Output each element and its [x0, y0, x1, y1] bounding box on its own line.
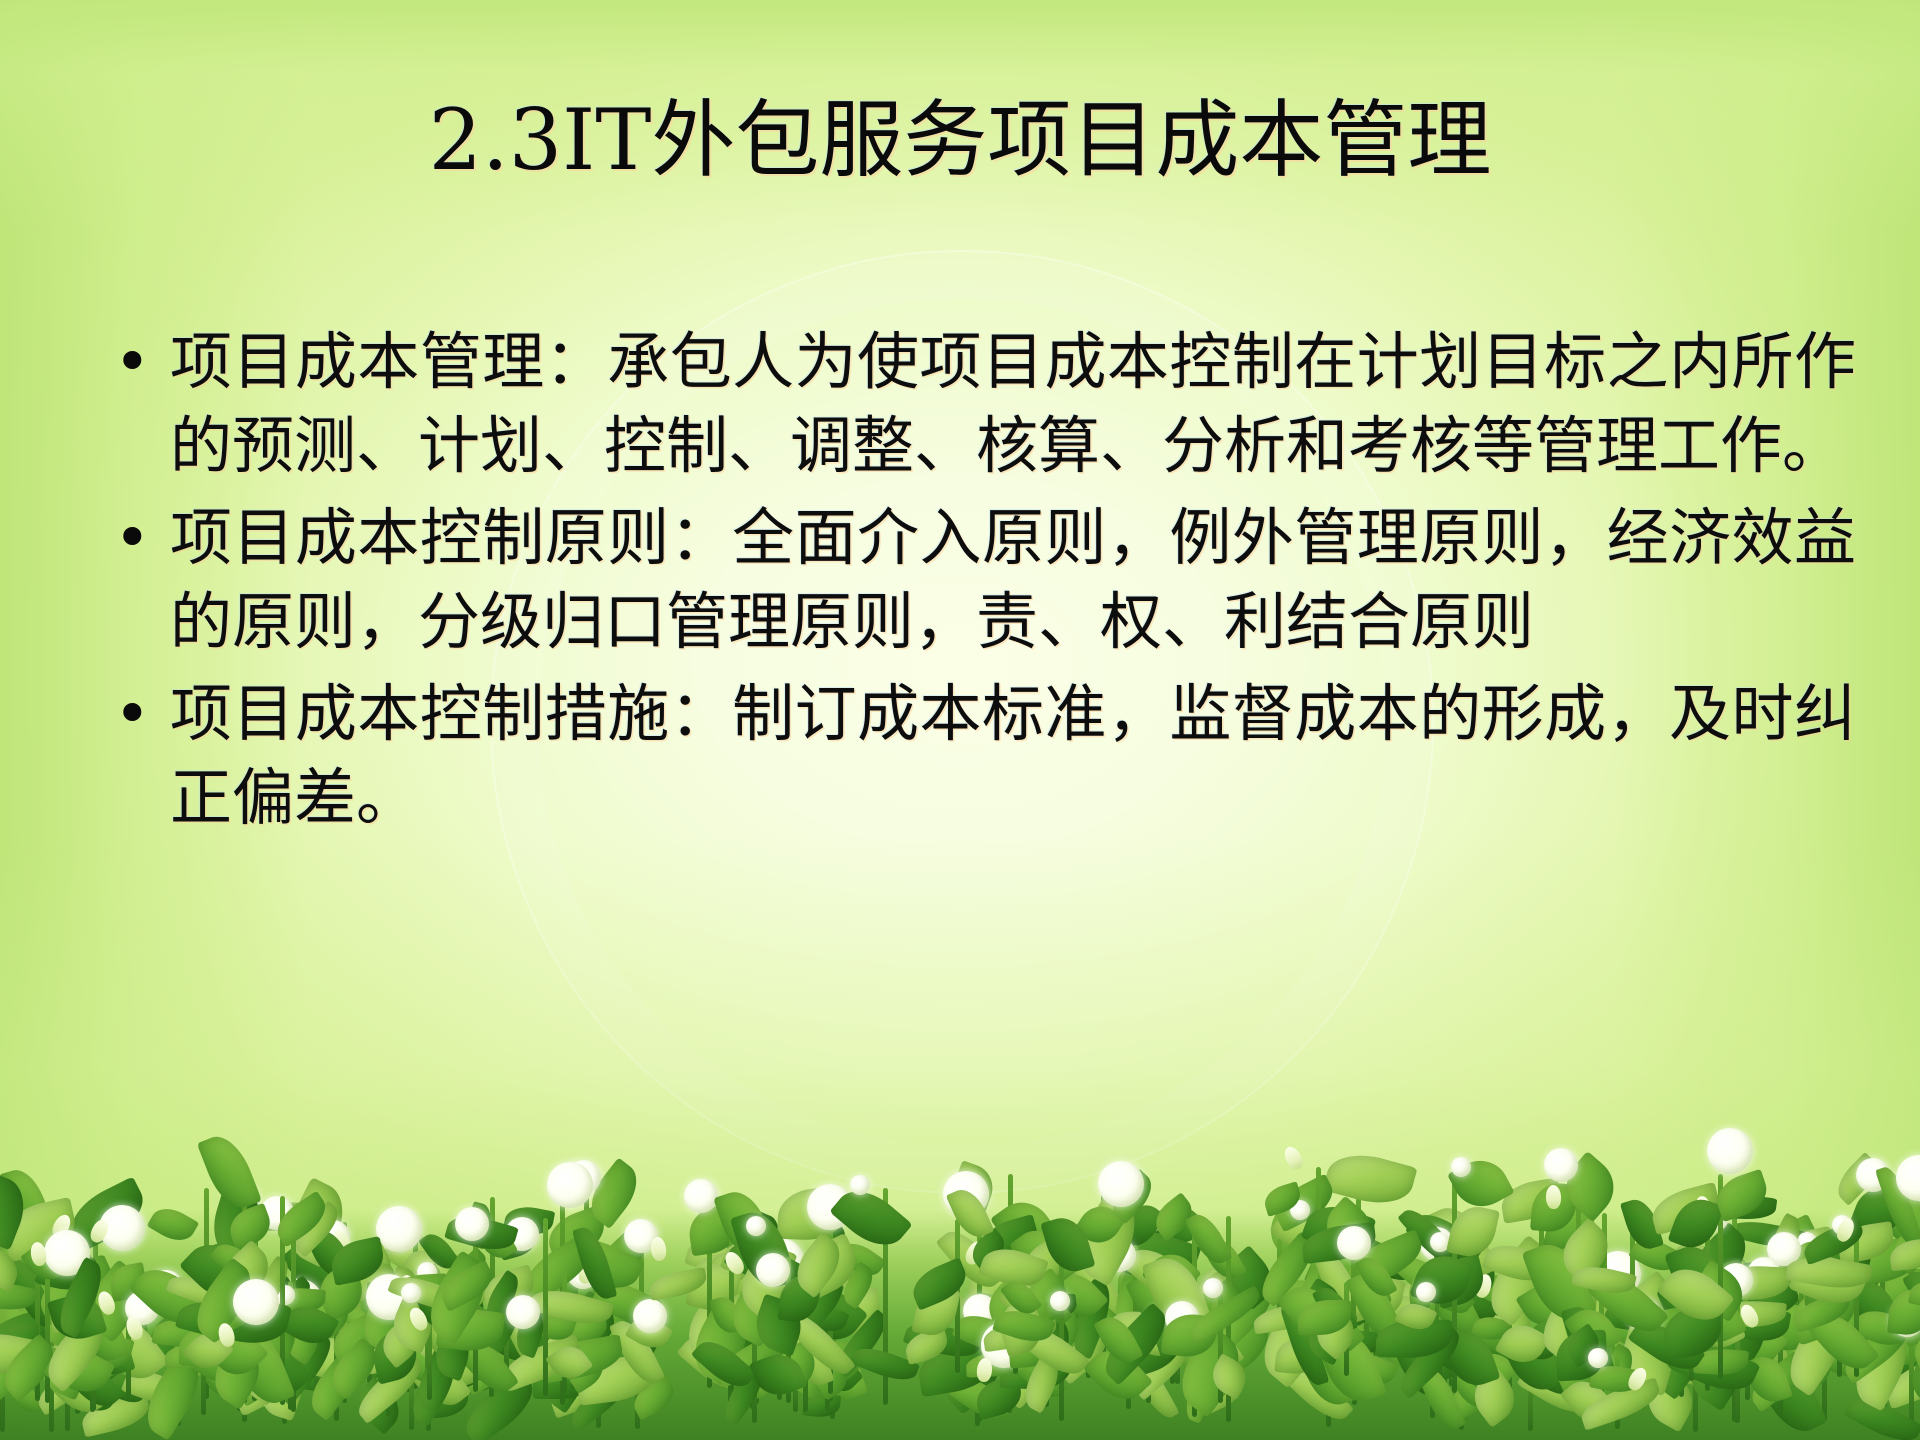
foliage-leaf — [1322, 1145, 1417, 1212]
jasmine-flower — [1416, 1282, 1436, 1302]
jasmine-flower — [1098, 1161, 1144, 1207]
jasmine-flower — [1451, 1157, 1471, 1177]
jasmine-flower — [1050, 1291, 1070, 1311]
jasmine-flower — [684, 1179, 718, 1213]
bullet-text-cost-management-definition: 项目成本管理：承包人为使项目成本控制在计划目标之内所作的预测、计划、控制、调整、… — [170, 320, 1856, 488]
jasmine-flower — [455, 1207, 489, 1241]
jasmine-flower — [850, 1175, 870, 1195]
slide-body: • 项目成本管理：承包人为使项目成本控制在计划目标之内所作的预测、计划、控制、调… — [96, 320, 1856, 848]
jasmine-foliage-border — [0, 1100, 1920, 1440]
jasmine-flower — [1337, 1226, 1371, 1260]
jasmine-flower — [1203, 1278, 1223, 1298]
jasmine-flower — [756, 1253, 790, 1287]
foliage-stem — [543, 1218, 548, 1396]
bullet-marker-icon: • — [96, 496, 170, 580]
bullet-marker-icon: • — [96, 672, 170, 756]
list-item: • 项目成本管理：承包人为使项目成本控制在计划目标之内所作的预测、计划、控制、调… — [96, 320, 1856, 488]
jasmine-flower — [1707, 1128, 1753, 1174]
bullet-text-cost-control-measures: 项目成本控制措施：制订成本标准，监督成本的形成，及时纠正偏差。 — [170, 672, 1856, 840]
jasmine-flower — [376, 1206, 422, 1252]
slide-title: 2.3IT外包服务项目成本管理 — [0, 96, 1920, 184]
bullet-text-cost-control-principles: 项目成本控制原则：全面介入原则，例外管理原则，经济效益的原则，分级归口管理原则，… — [170, 496, 1856, 664]
jasmine-flower — [633, 1299, 667, 1333]
jasmine-flower — [547, 1162, 593, 1208]
list-item: • 项目成本控制原则：全面介入原则，例外管理原则，经济效益的原则，分级归口管理原… — [96, 496, 1856, 664]
bullet-marker-icon: • — [96, 320, 170, 404]
list-item: • 项目成本控制措施：制订成本标准，监督成本的形成，及时纠正偏差。 — [96, 672, 1856, 840]
jasmine-bud — [1545, 1185, 1561, 1209]
jasmine-flower — [506, 1295, 540, 1329]
presentation-slide: 2.3IT外包服务项目成本管理 • 项目成本管理：承包人为使项目成本控制在计划目… — [0, 0, 1920, 1440]
jasmine-bud — [1281, 1144, 1305, 1172]
